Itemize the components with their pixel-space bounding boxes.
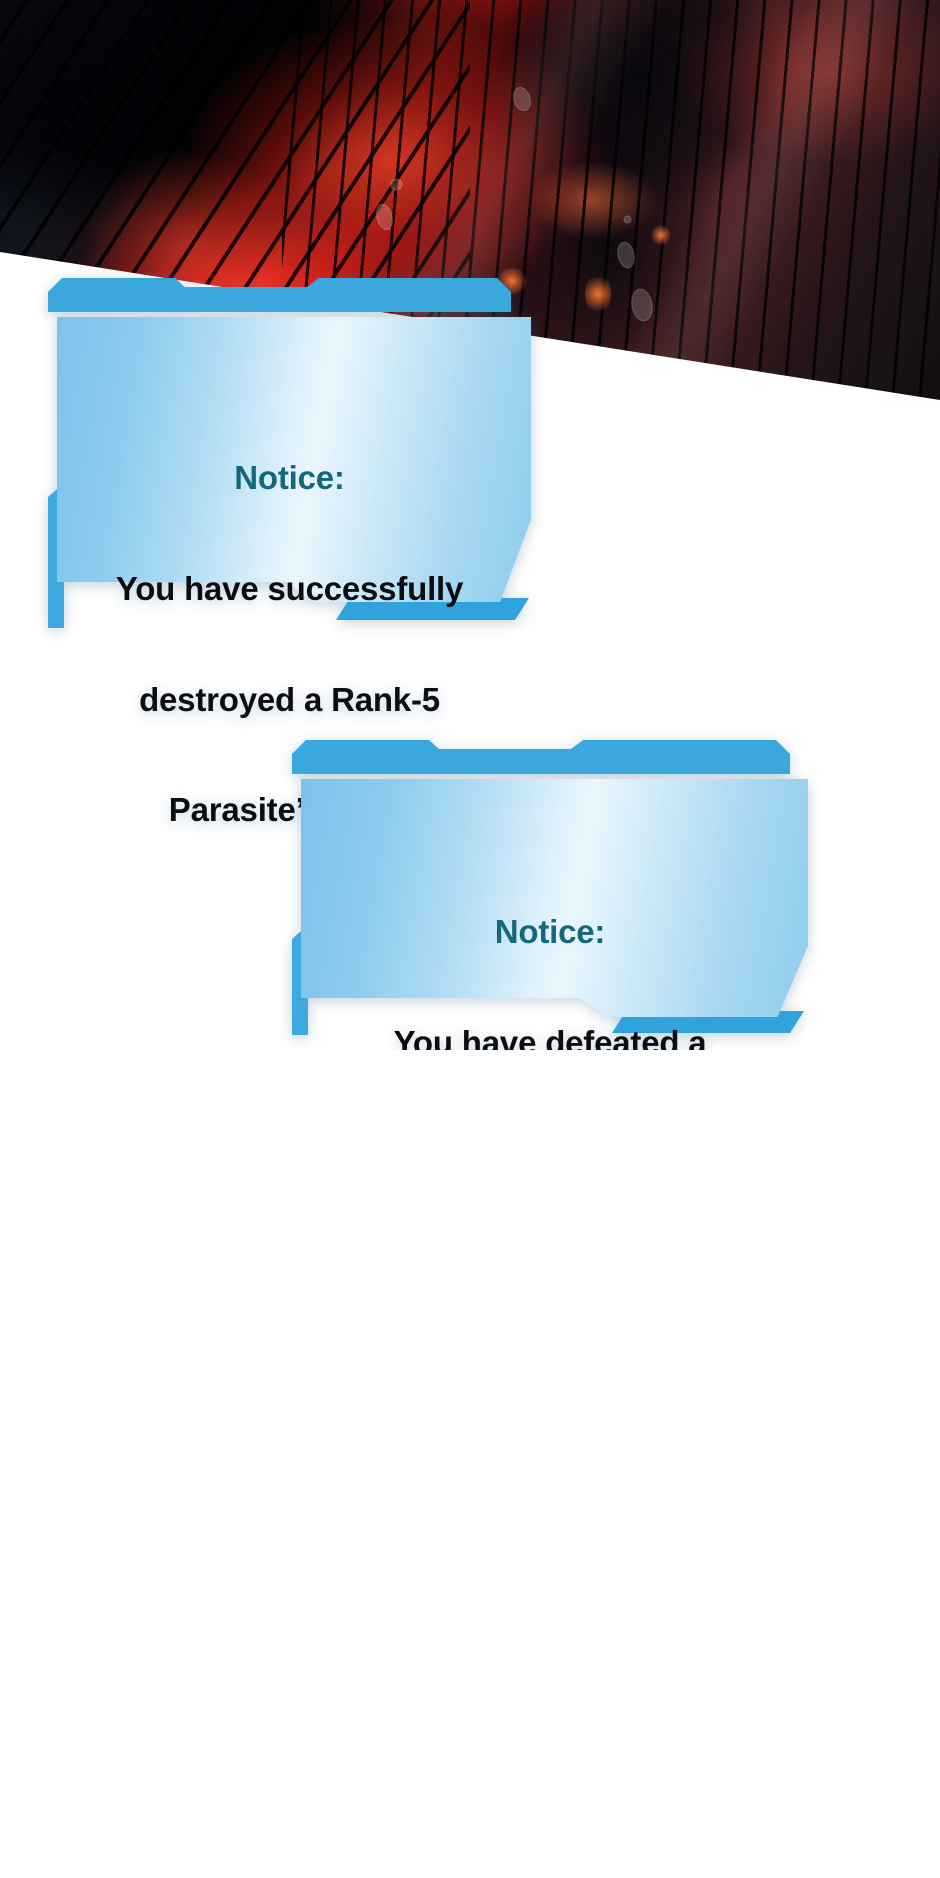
- webtoon-page: Notice: You have successfully destroyed …: [0, 0, 940, 1878]
- artwork-ember-glow: [585, 272, 611, 316]
- artwork-spark-particle: [392, 180, 401, 189]
- notice-line: You have successfully: [48, 571, 531, 608]
- artwork-ember-glow: [650, 225, 672, 245]
- blank-white-area: [0, 1050, 940, 1878]
- notice-title: Notice:: [292, 914, 808, 951]
- notice-box-2: Notice: You have defeated a Rank-5 Paras…: [292, 740, 808, 1042]
- notice-header-bar: [48, 278, 511, 312]
- notice-title: Notice:: [48, 460, 531, 497]
- notice-box-1: Notice: You have successfully destroyed …: [48, 278, 531, 630]
- notice-line: destroyed a Rank-5: [48, 682, 531, 719]
- artwork-spark-particle: [625, 217, 630, 222]
- notice-header-bar: [292, 740, 790, 774]
